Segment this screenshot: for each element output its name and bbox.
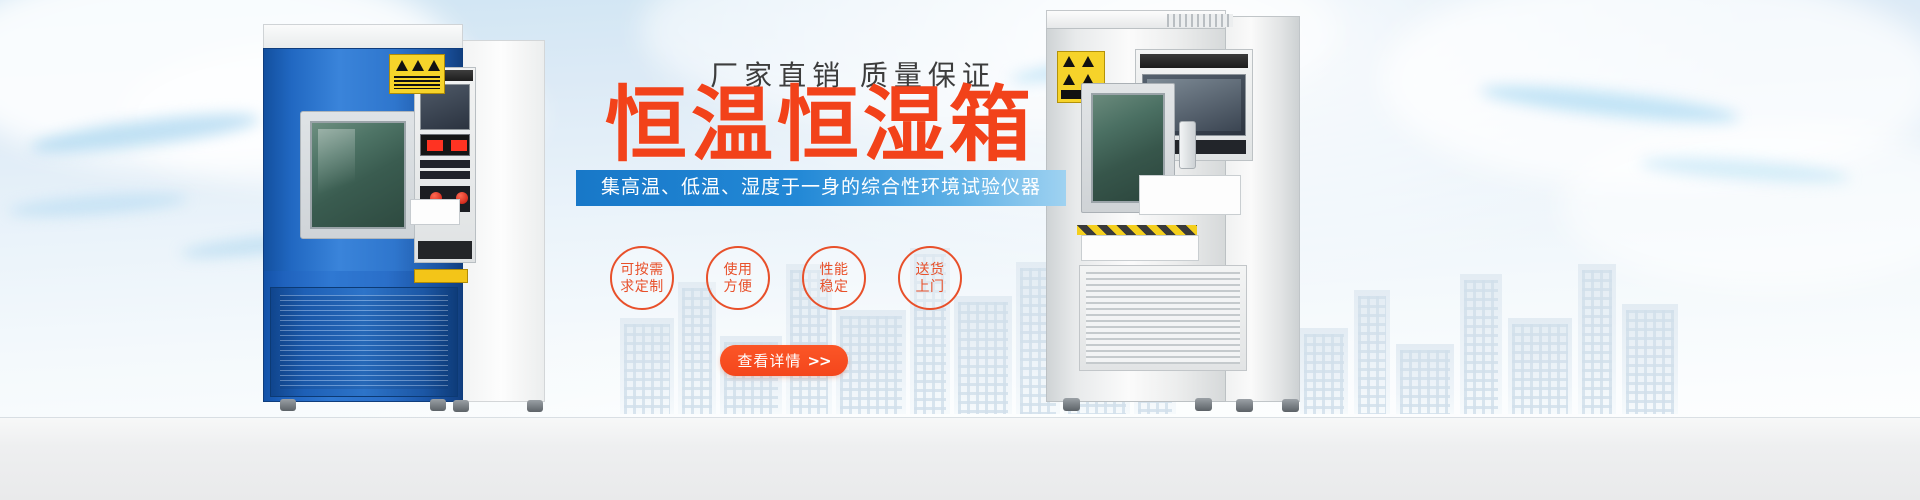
product-image-left-chamber [245,24,545,402]
spec-label-right [1139,175,1241,215]
badge-line-2: 稳定 [820,278,849,295]
product-banner: 厂家直销 质量保证 恒温恒湿箱 集高温、低温、湿度于一身的综合性环境试验仪器 可… [0,0,1920,500]
chevron-right-icon: >> [807,352,830,370]
page-title: 恒温恒湿箱 [560,85,1080,167]
badge-line-1: 使用 [724,261,753,278]
badge-line-1: 性能 [820,261,849,278]
feature-badge-delivery: 送货 上门 [898,246,962,310]
subtitle-bar: 集高温、低温、湿度于一身的综合性环境试验仪器 [576,170,1066,206]
badge-line-2: 上门 [916,278,945,295]
city-skyline-silhouette-right [1300,264,1720,414]
info-plate-right [1081,235,1199,261]
badge-line-1: 可按需 [620,261,664,278]
badge-line-2: 求定制 [620,278,664,295]
badge-line-1: 送货 [916,261,945,278]
door-handle-right [1179,121,1196,169]
view-details-button[interactable]: 查看详情 >> [720,345,848,376]
hazard-label-top-left [389,54,445,94]
badge-line-2: 方便 [724,278,753,295]
spec-label-left [410,199,460,225]
feature-badge-list: 可按需 求定制 使用 方便 性能 稳定 送货 上门 [570,228,1070,328]
feature-badge-stable: 性能 稳定 [802,246,866,310]
subtitle-text: 集高温、低温、湿度于一身的综合性环境试验仪器 [576,170,1066,206]
banner-copy-block: 厂家直销 质量保证 恒温恒湿箱 集高温、低温、湿度于一身的综合性环境试验仪器 可… [560,0,1080,500]
warning-stripe-right [1077,225,1197,235]
feature-badge-easy-use: 使用 方便 [706,246,770,310]
cta-label: 查看详情 [737,350,801,371]
warning-label-left [414,269,468,283]
control-panel-left [414,67,476,263]
feature-badge-custom: 可按需 求定制 [610,246,674,310]
chamber-door-left [300,111,416,239]
